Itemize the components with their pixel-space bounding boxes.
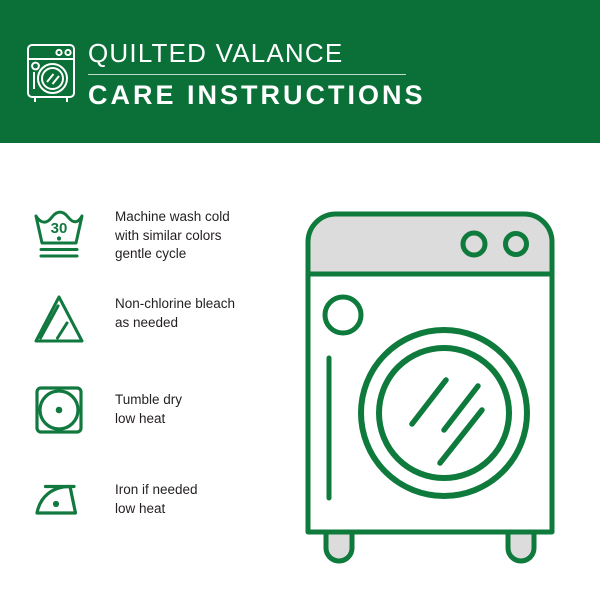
- care-row-tumble-dry: Tumble dry low heat: [28, 379, 278, 441]
- header-text-block: QUILTED VALANCE CARE INSTRUCTIONS: [88, 38, 508, 111]
- tumble-dry-low-heat-symbol: [28, 379, 90, 441]
- wash-temperature-value: 30: [51, 220, 68, 237]
- page-subtitle: CARE INSTRUCTIONS: [88, 80, 508, 111]
- care-row-bleach: Non-chlorine bleach as needed: [28, 289, 278, 351]
- title-divider: [88, 74, 406, 75]
- care-row-iron: Iron if needed low heat: [28, 469, 278, 531]
- iron-low-heat-symbol: [28, 469, 90, 531]
- care-label-bleach: Non-chlorine bleach as needed: [115, 289, 235, 332]
- care-instructions-card: QUILTED VALANCE CARE INSTRUCTIONS 30: [0, 0, 600, 600]
- care-row-machine-wash: 30 Machine wash cold with similar colors…: [28, 202, 278, 264]
- header-banner: QUILTED VALANCE CARE INSTRUCTIONS: [0, 0, 600, 143]
- care-label-machine-wash: Machine wash cold with similar colors ge…: [115, 202, 230, 264]
- non-chlorine-bleach-symbol: [28, 289, 90, 351]
- machine-wash-30-gentle-symbol: 30: [28, 202, 90, 264]
- page-title: QUILTED VALANCE: [88, 38, 508, 68]
- washer-control-panel: [308, 214, 552, 274]
- care-instructions-list: 30 Machine wash cold with similar colors…: [0, 143, 290, 600]
- washing-machine-illustration: [296, 198, 576, 566]
- washing-machine-icon: [24, 42, 78, 104]
- care-label-tumble-dry: Tumble dry low heat: [115, 379, 182, 428]
- care-label-iron: Iron if needed low heat: [115, 469, 198, 518]
